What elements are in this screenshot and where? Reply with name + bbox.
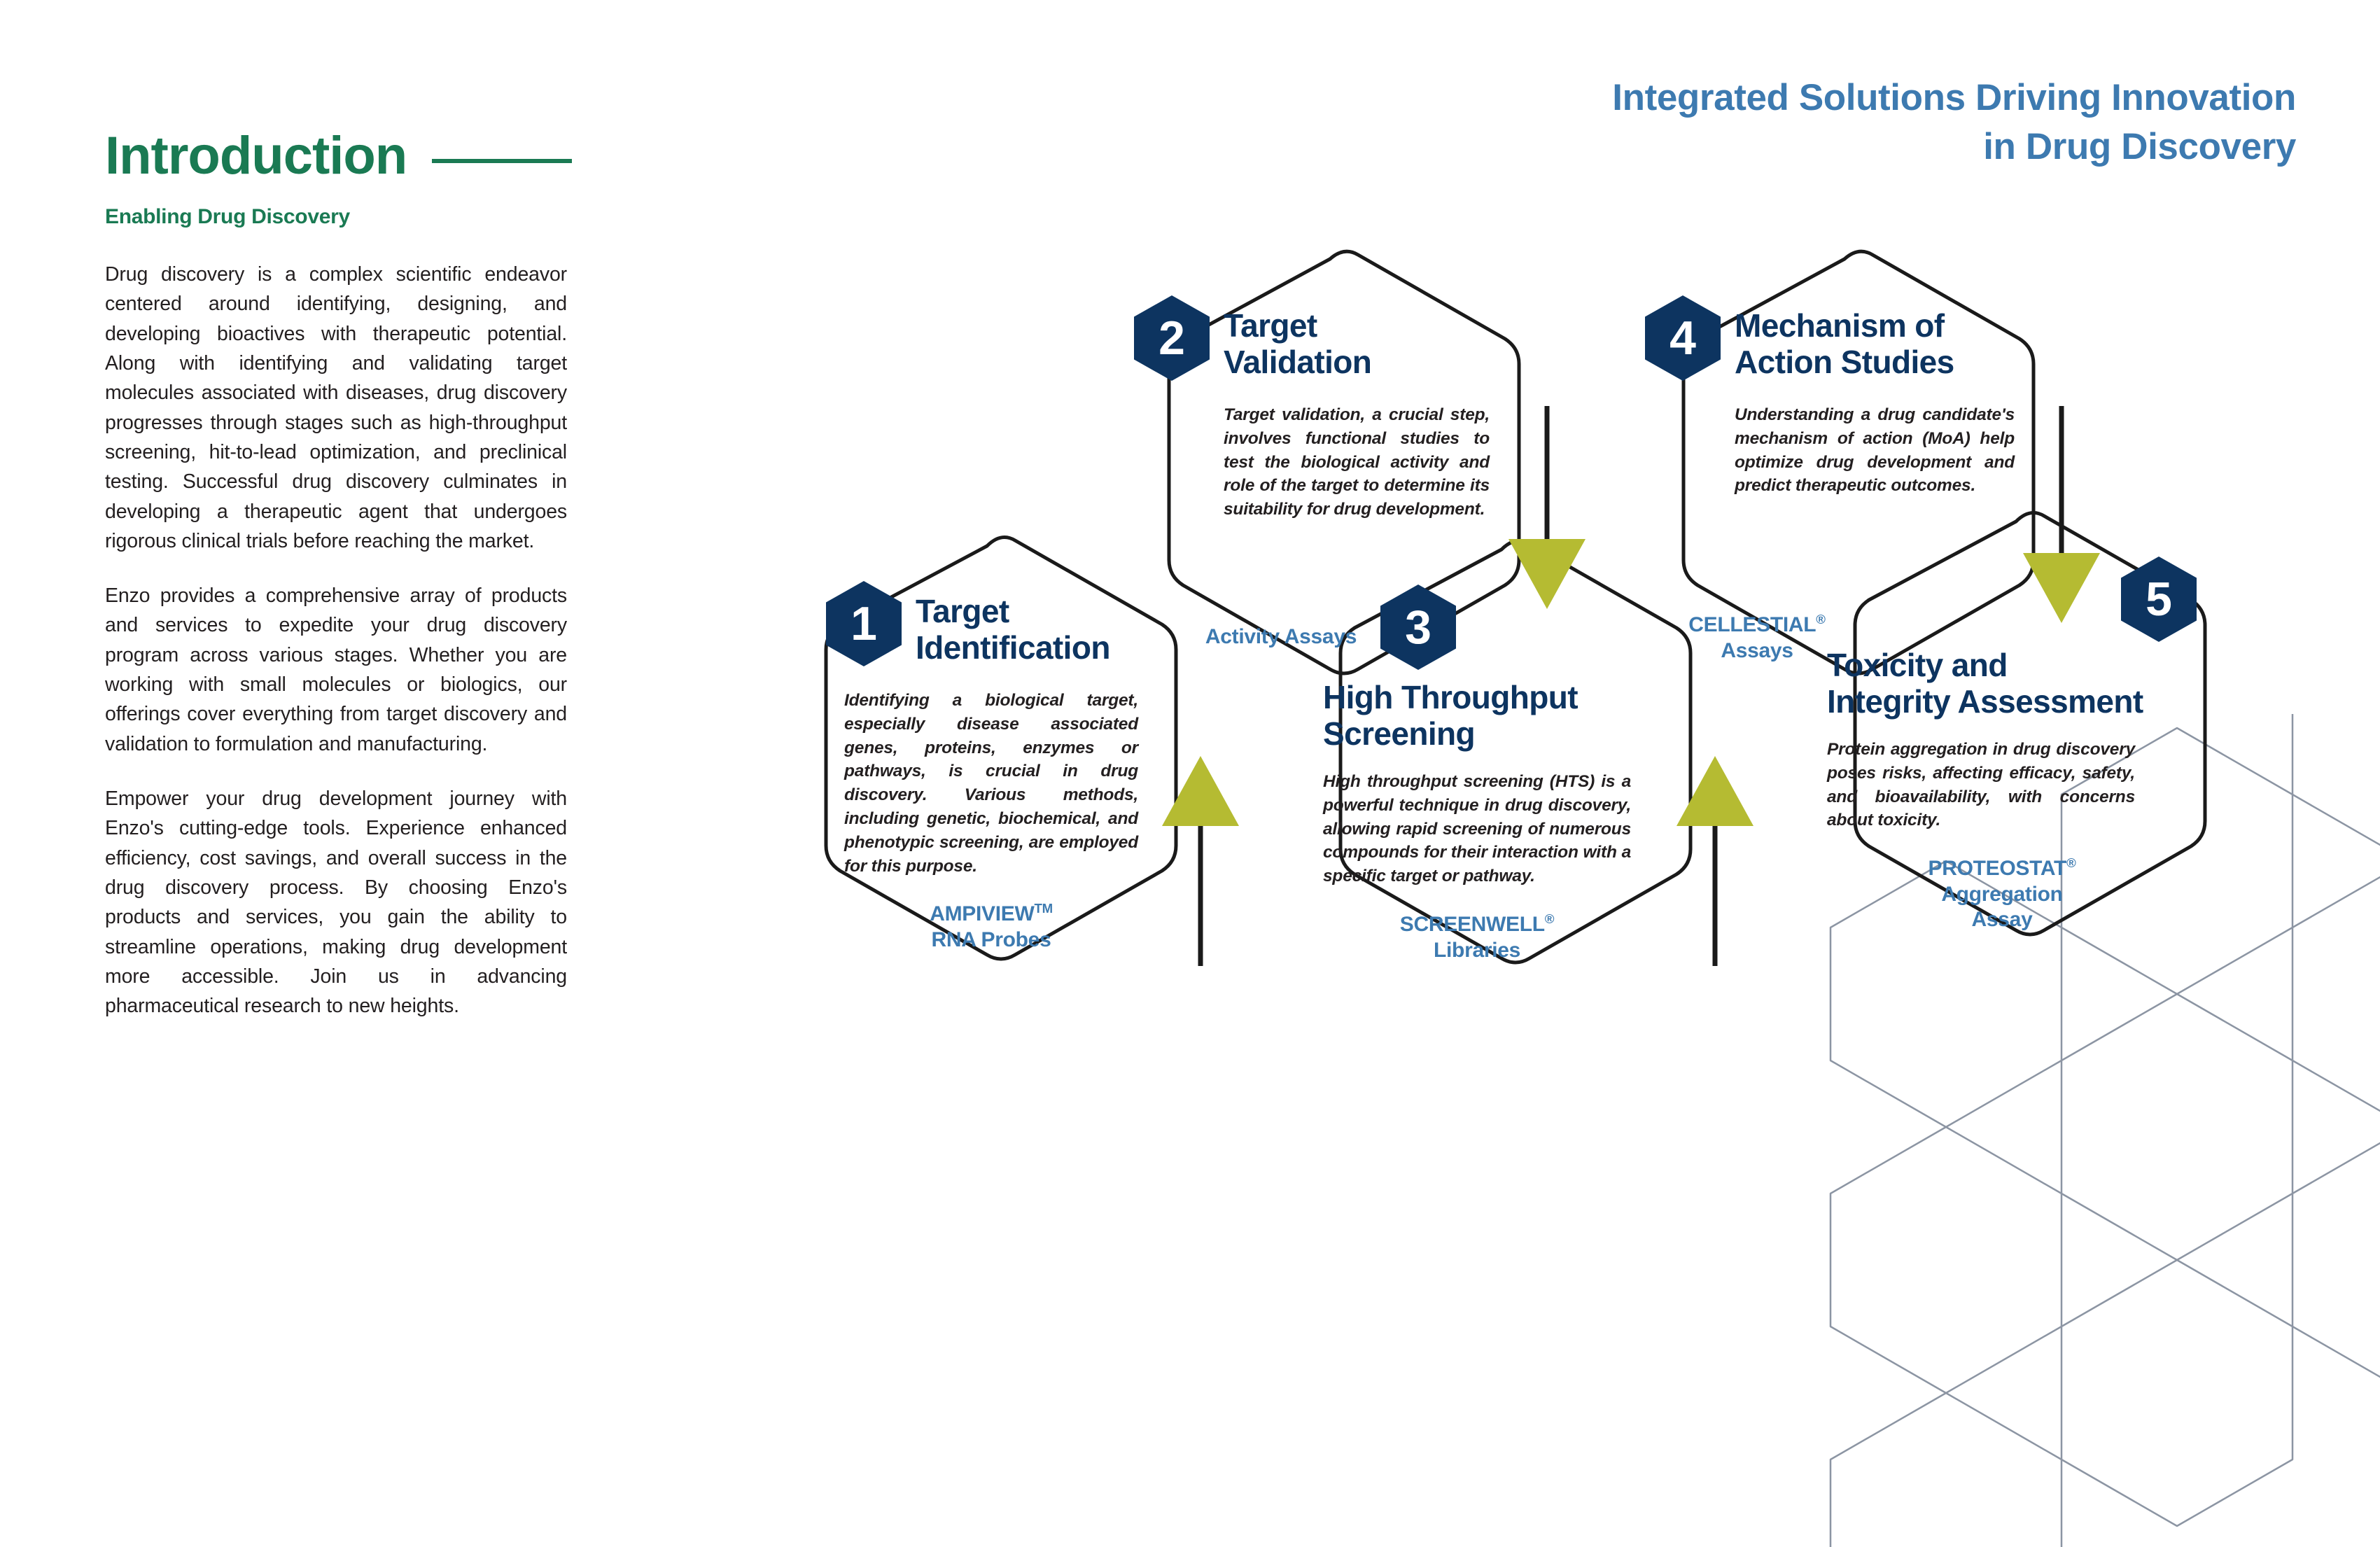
- step-title-4-line-2: Action Studies: [1735, 344, 1974, 381]
- step-product-4-suffix: Assays: [1721, 639, 1793, 662]
- step-title-2-line-1: Target: [1224, 308, 1463, 344]
- step-product-3-mark: ®: [1545, 911, 1554, 926]
- step-title-3-line-2: Screening: [1323, 716, 1652, 752]
- step-title-1-line-2: Identification: [916, 630, 1155, 666]
- step-title-3-line-1: High Throughput: [1323, 680, 1652, 716]
- step-product-4: CELLESTIAL® Assays: [1652, 612, 1862, 664]
- step-product-5: PROTEOSTAT® Aggregation Assay: [1855, 856, 2149, 933]
- page-title: Introduction: [105, 129, 407, 183]
- step-product-5-name: PROTEOSTAT: [1928, 857, 2067, 880]
- step-description-5: Protein aggregation in drug discovery po…: [1827, 738, 2135, 832]
- poster-heading: Integrated Solutions Driving Innovation …: [1386, 73, 2296, 171]
- introduction-column: Introduction Enabling Drug Discovery Dru…: [105, 122, 567, 1041]
- step-product-1-suffix: RNA Probes: [932, 928, 1051, 951]
- introduction-title-row: Introduction: [105, 122, 567, 190]
- intro-paragraph-1: Drug discovery is a complex scientific e…: [105, 260, 567, 556]
- intro-paragraph-2: Enzo provides a comprehensive array of p…: [105, 581, 567, 759]
- workflow-step-4[interactable]: 4 Mechanism of Action Studies Understand…: [1645, 295, 1974, 498]
- step-number-badge-2: 2: [1134, 295, 1210, 381]
- workflow-step-2[interactable]: 2 Target Validation Target validation, a…: [1134, 295, 1463, 521]
- step-description-2: Target validation, a crucial step, invol…: [1224, 403, 1490, 521]
- step-title-4-line-1: Mechanism of: [1735, 308, 1974, 344]
- step-title-5-line-1: Toxicity and: [1827, 647, 2191, 684]
- step-product-1-mark: TM: [1035, 901, 1053, 916]
- step-product-3-name: SCREENWELL: [1400, 913, 1545, 936]
- step-title-1: Target Identification: [916, 581, 1155, 671]
- workflow-step-5[interactable]: 5 Toxicity and Integrity Assessment Prot…: [1827, 556, 2191, 933]
- step-product-4-name: CELLESTIAL: [1688, 613, 1816, 636]
- step-title-2: Target Validation: [1224, 295, 1463, 385]
- step-description-4: Understanding a drug candidate's mechani…: [1735, 403, 2015, 498]
- step-number-badge-1: 1: [826, 581, 902, 666]
- step-product-3-suffix: Libraries: [1434, 939, 1520, 962]
- step-product-5-suffix-line-2: Assay: [1972, 908, 2033, 931]
- step-product-5-mark: ®: [2066, 855, 2075, 870]
- step-title-2-line-2: Validation: [1224, 344, 1463, 381]
- workflow-step-1[interactable]: 1 Target Identification Identifying a bi…: [826, 581, 1155, 953]
- step-product-2: Activity Assays: [1169, 624, 1393, 650]
- step-description-1: Identifying a biological target, especia…: [844, 689, 1138, 878]
- step-description-3: High throughput screening (HTS) is a pow…: [1323, 770, 1631, 888]
- drug-discovery-workflow-diagram: 1 Target Identification Identifying a bi…: [735, 266, 2380, 1050]
- poster-heading-line-2: in Drug Discovery: [1386, 122, 2296, 171]
- title-rule-divider: [432, 159, 572, 163]
- step-title-1-line-1: Target: [916, 594, 1155, 630]
- step-title-4: Mechanism of Action Studies: [1735, 295, 1974, 385]
- step-product-1-name: AMPIVIEW: [930, 902, 1034, 925]
- intro-paragraph-3: Empower your drug development journey wi…: [105, 784, 567, 1021]
- step-product-1: AMPIVIEWTM RNA Probes: [844, 902, 1138, 953]
- step-product-4-mark: ®: [1816, 612, 1825, 626]
- step-title-3: High Throughput Screening: [1323, 584, 1652, 752]
- step-product-5-suffix-line-1: Aggregation: [1941, 883, 2062, 906]
- step-product-3: SCREENWELL® Libraries: [1323, 912, 1631, 963]
- step-product-2-name: Activity Assays: [1205, 625, 1357, 648]
- step-title-5-line-2: Integrity Assessment: [1827, 684, 2191, 720]
- poster-heading-line-1: Integrated Solutions Driving Innovation: [1386, 73, 2296, 122]
- step-number-badge-4: 4: [1645, 295, 1721, 381]
- introduction-subtitle: Enabling Drug Discovery: [105, 205, 567, 229]
